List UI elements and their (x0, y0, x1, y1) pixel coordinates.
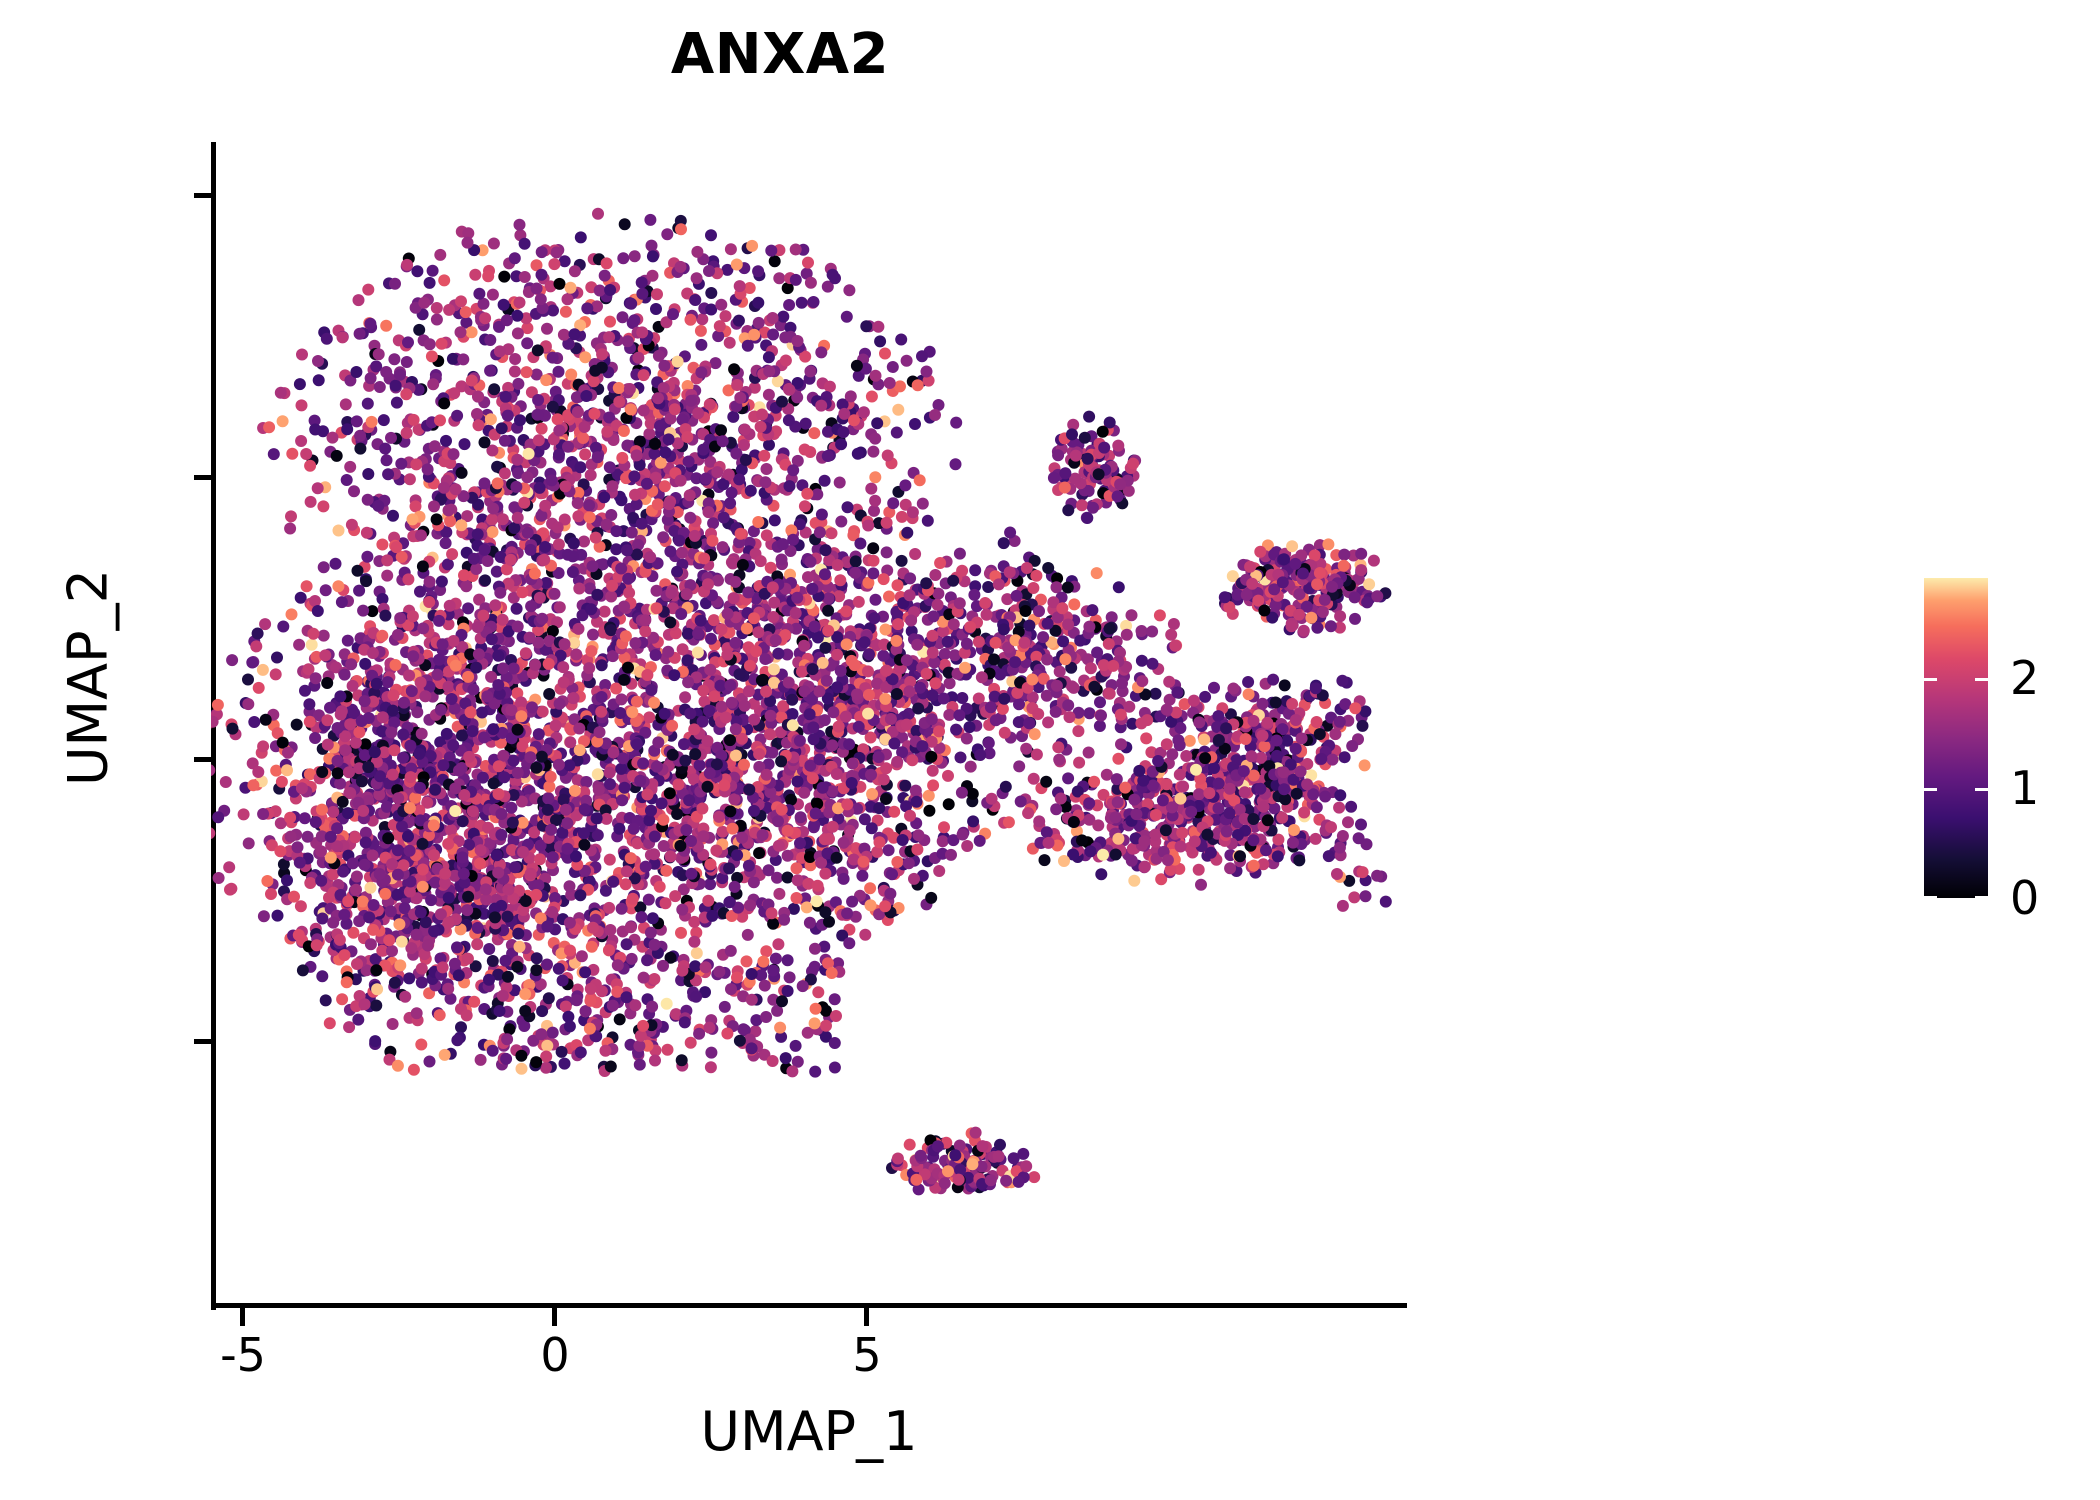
scatter-points-layer (211, 142, 1407, 1306)
y-tick-mark-8 (194, 475, 212, 480)
colorbar-tick-0-left (1924, 896, 1937, 899)
colorbar-tick-1-right (1975, 788, 1988, 791)
colorbar-gradient (1924, 578, 1988, 898)
scatter-plot-area (211, 142, 1407, 1306)
y-tick-mark-0 (194, 1039, 212, 1044)
x-tick-mark-0 (552, 1308, 557, 1326)
colorbar-tick-0-right (1975, 896, 1988, 899)
x-tick-label-0: 0 (540, 1332, 569, 1378)
x-tick-mark-minus5 (240, 1308, 245, 1326)
x-tick-mark-5 (864, 1308, 869, 1326)
x-axis-label: UMAP_1 (211, 1400, 1407, 1463)
colorbar-label-1: 1 (2010, 765, 2039, 811)
colorbar-tick-2-left (1924, 678, 1937, 681)
page-title: ANXA2 (0, 22, 1560, 87)
y-axis-label: UMAP_2 (57, 278, 120, 1078)
colorbar-label-0: 0 (2010, 875, 2039, 921)
x-tick-label-5: 5 (852, 1332, 881, 1378)
colorbar-tick-1-left (1924, 788, 1937, 791)
x-tick-label-minus5: -5 (220, 1332, 266, 1378)
colorbar-tick-2-right (1975, 678, 1988, 681)
y-tick-mark-12 (194, 193, 212, 198)
colorbar-label-2: 2 (2010, 655, 2039, 701)
figure-canvas: ANXA2 12 8 4 0 -5 0 5 UMAP_1 UMAP_2 2 1 … (0, 0, 2100, 1500)
y-tick-mark-4 (194, 757, 212, 762)
